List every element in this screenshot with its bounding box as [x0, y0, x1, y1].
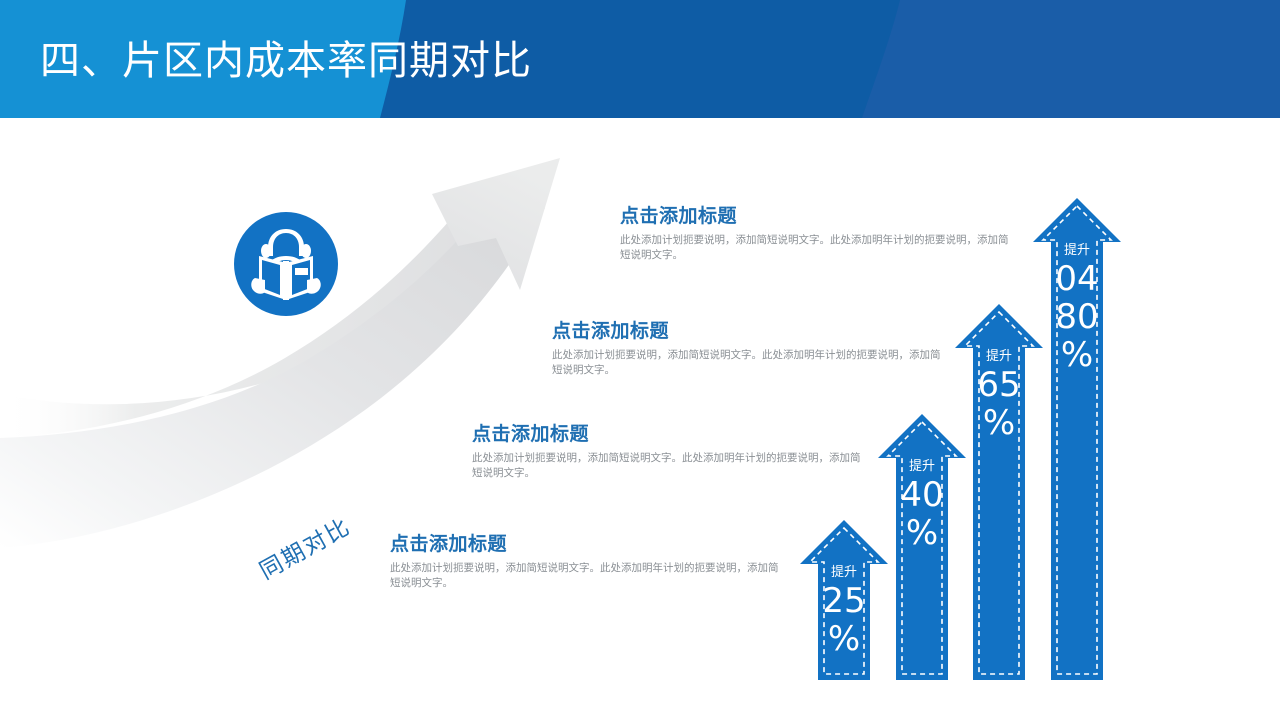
slide-canvas: 四、片区内成本率同期对比	[0, 0, 1280, 720]
bar-value-4: 04	[1031, 260, 1123, 298]
slide-header: 四、片区内成本率同期对比	[0, 0, 1280, 118]
feature-title-1: 点击添加标题	[620, 203, 1020, 229]
feature-body-2: 此处添加计划扼要说明，添加简短说明文字。此处添加明年计划的扼要说明，添加简短说明…	[552, 348, 944, 378]
feature-title-2: 点击添加标题	[552, 318, 952, 344]
feature-title-4: 点击添加标题	[390, 531, 790, 557]
bar-prefix-4: 提升	[1031, 243, 1123, 259]
feature-body-4: 此处添加计划扼要说明，添加简短说明文字。此处添加明年计划的扼要说明，添加简短说明…	[390, 561, 782, 591]
growth-swoosh-arrow: 同期对比	[0, 118, 700, 678]
feature-body-3: 此处添加计划扼要说明，添加简短说明文字。此处添加明年计划的扼要说明，添加简短说明…	[472, 451, 864, 481]
bar-unit-4: %	[1031, 336, 1123, 374]
feature-body-1: 此处添加计划扼要说明，添加简短说明文字。此处添加明年计划的扼要说明，添加简短说明…	[620, 233, 1012, 263]
feature-block-1[interactable]: 点击添加标题 此处添加计划扼要说明，添加简短说明文字。此处添加明年计划的扼要说明…	[620, 203, 1020, 263]
bar-arrow-4[interactable]: 提升 04 80 %	[1031, 196, 1123, 682]
feature-block-3[interactable]: 点击添加标题 此处添加计划扼要说明，添加简短说明文字。此处添加明年计划的扼要说明…	[472, 421, 872, 481]
bar-value2-4: 80	[1031, 298, 1123, 336]
reading-person-icon	[233, 211, 339, 317]
feature-title-3: 点击添加标题	[472, 421, 872, 447]
feature-block-4[interactable]: 点击添加标题 此处添加计划扼要说明，添加简短说明文字。此处添加明年计划的扼要说明…	[390, 531, 790, 591]
feature-block-2[interactable]: 点击添加标题 此处添加计划扼要说明，添加简短说明文字。此处添加明年计划的扼要说明…	[552, 318, 952, 378]
page-title: 四、片区内成本率同期对比	[40, 36, 532, 86]
swoosh-svg	[0, 118, 700, 678]
